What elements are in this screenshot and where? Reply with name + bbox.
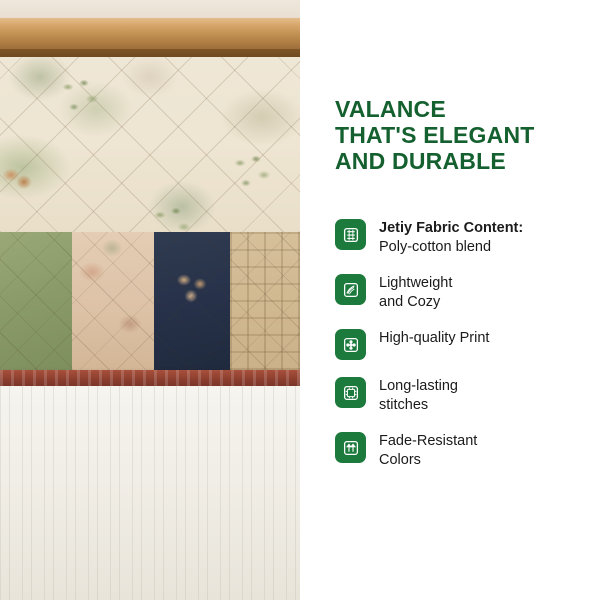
feature-line-2: stitches [379,397,428,413]
patch-tan-plaid [230,232,300,370]
fabric-swatch-icon [335,219,366,250]
patch-sage-green [0,232,72,370]
feature-value: Poly-cotton blend [379,239,491,255]
patch-peach-floral [72,232,154,370]
feature-item-fabric-content: Jetiy Fabric Content: Poly-cotton blend [335,218,590,257]
feature-item-fade-resistant: Fade-Resistant Colors [335,431,590,470]
valance-floral-band [0,57,300,232]
feature-text: Long-lasting stitches [379,376,458,415]
headline-line-2: THAT'S ELEGANT [335,122,585,148]
feather-layers-icon [335,274,366,305]
headline-line-3: AND DURABLE [335,148,585,174]
feature-line-1: Fade-Resistant [379,433,477,449]
feature-item-print-quality: High-quality Print [335,328,590,360]
flower-print-icon [335,329,366,360]
patchwork-row [0,232,300,370]
promo-image: VALANCE THAT'S ELEGANT AND DURABLE Jetiy… [0,0,600,600]
feature-text: Fade-Resistant Colors [379,431,477,470]
feature-line-2: and Cozy [379,294,440,310]
feature-line-1: Long-lasting [379,378,458,394]
feature-text: High-quality Print [379,328,489,348]
white-sheer-curtain [0,386,300,600]
red-floral-binding [0,370,300,386]
feature-label-colon: : [518,220,523,236]
text-panel: VALANCE THAT'S ELEGANT AND DURABLE Jetiy… [300,0,600,600]
headline-line-1: VALANCE [335,96,585,122]
feature-list: Jetiy Fabric Content: Poly-cotton blend … [335,218,590,486]
product-photo [0,0,300,600]
feature-item-lightweight: Lightweight and Cozy [335,273,590,312]
floral-motif [230,153,284,197]
leaf-motif [172,270,212,306]
feature-line-1: Lightweight [379,275,452,291]
butterfly-motif [3,167,33,193]
headline: VALANCE THAT'S ELEGANT AND DURABLE [335,96,585,174]
feature-label-bold: Jetiy Fabric Content [379,220,518,236]
floral-motif [58,77,112,121]
feature-item-stitches: Long-lasting stitches [335,376,590,415]
feature-line-2: Colors [379,452,421,468]
feature-text: Jetiy Fabric Content: Poly-cotton blend [379,218,523,257]
stitch-grid-icon [335,377,366,408]
feature-line-1: High-quality Print [379,330,489,346]
feature-text: Lightweight and Cozy [379,273,452,312]
patch-navy-leaf [154,232,230,370]
double-up-arrows-icon [335,432,366,463]
